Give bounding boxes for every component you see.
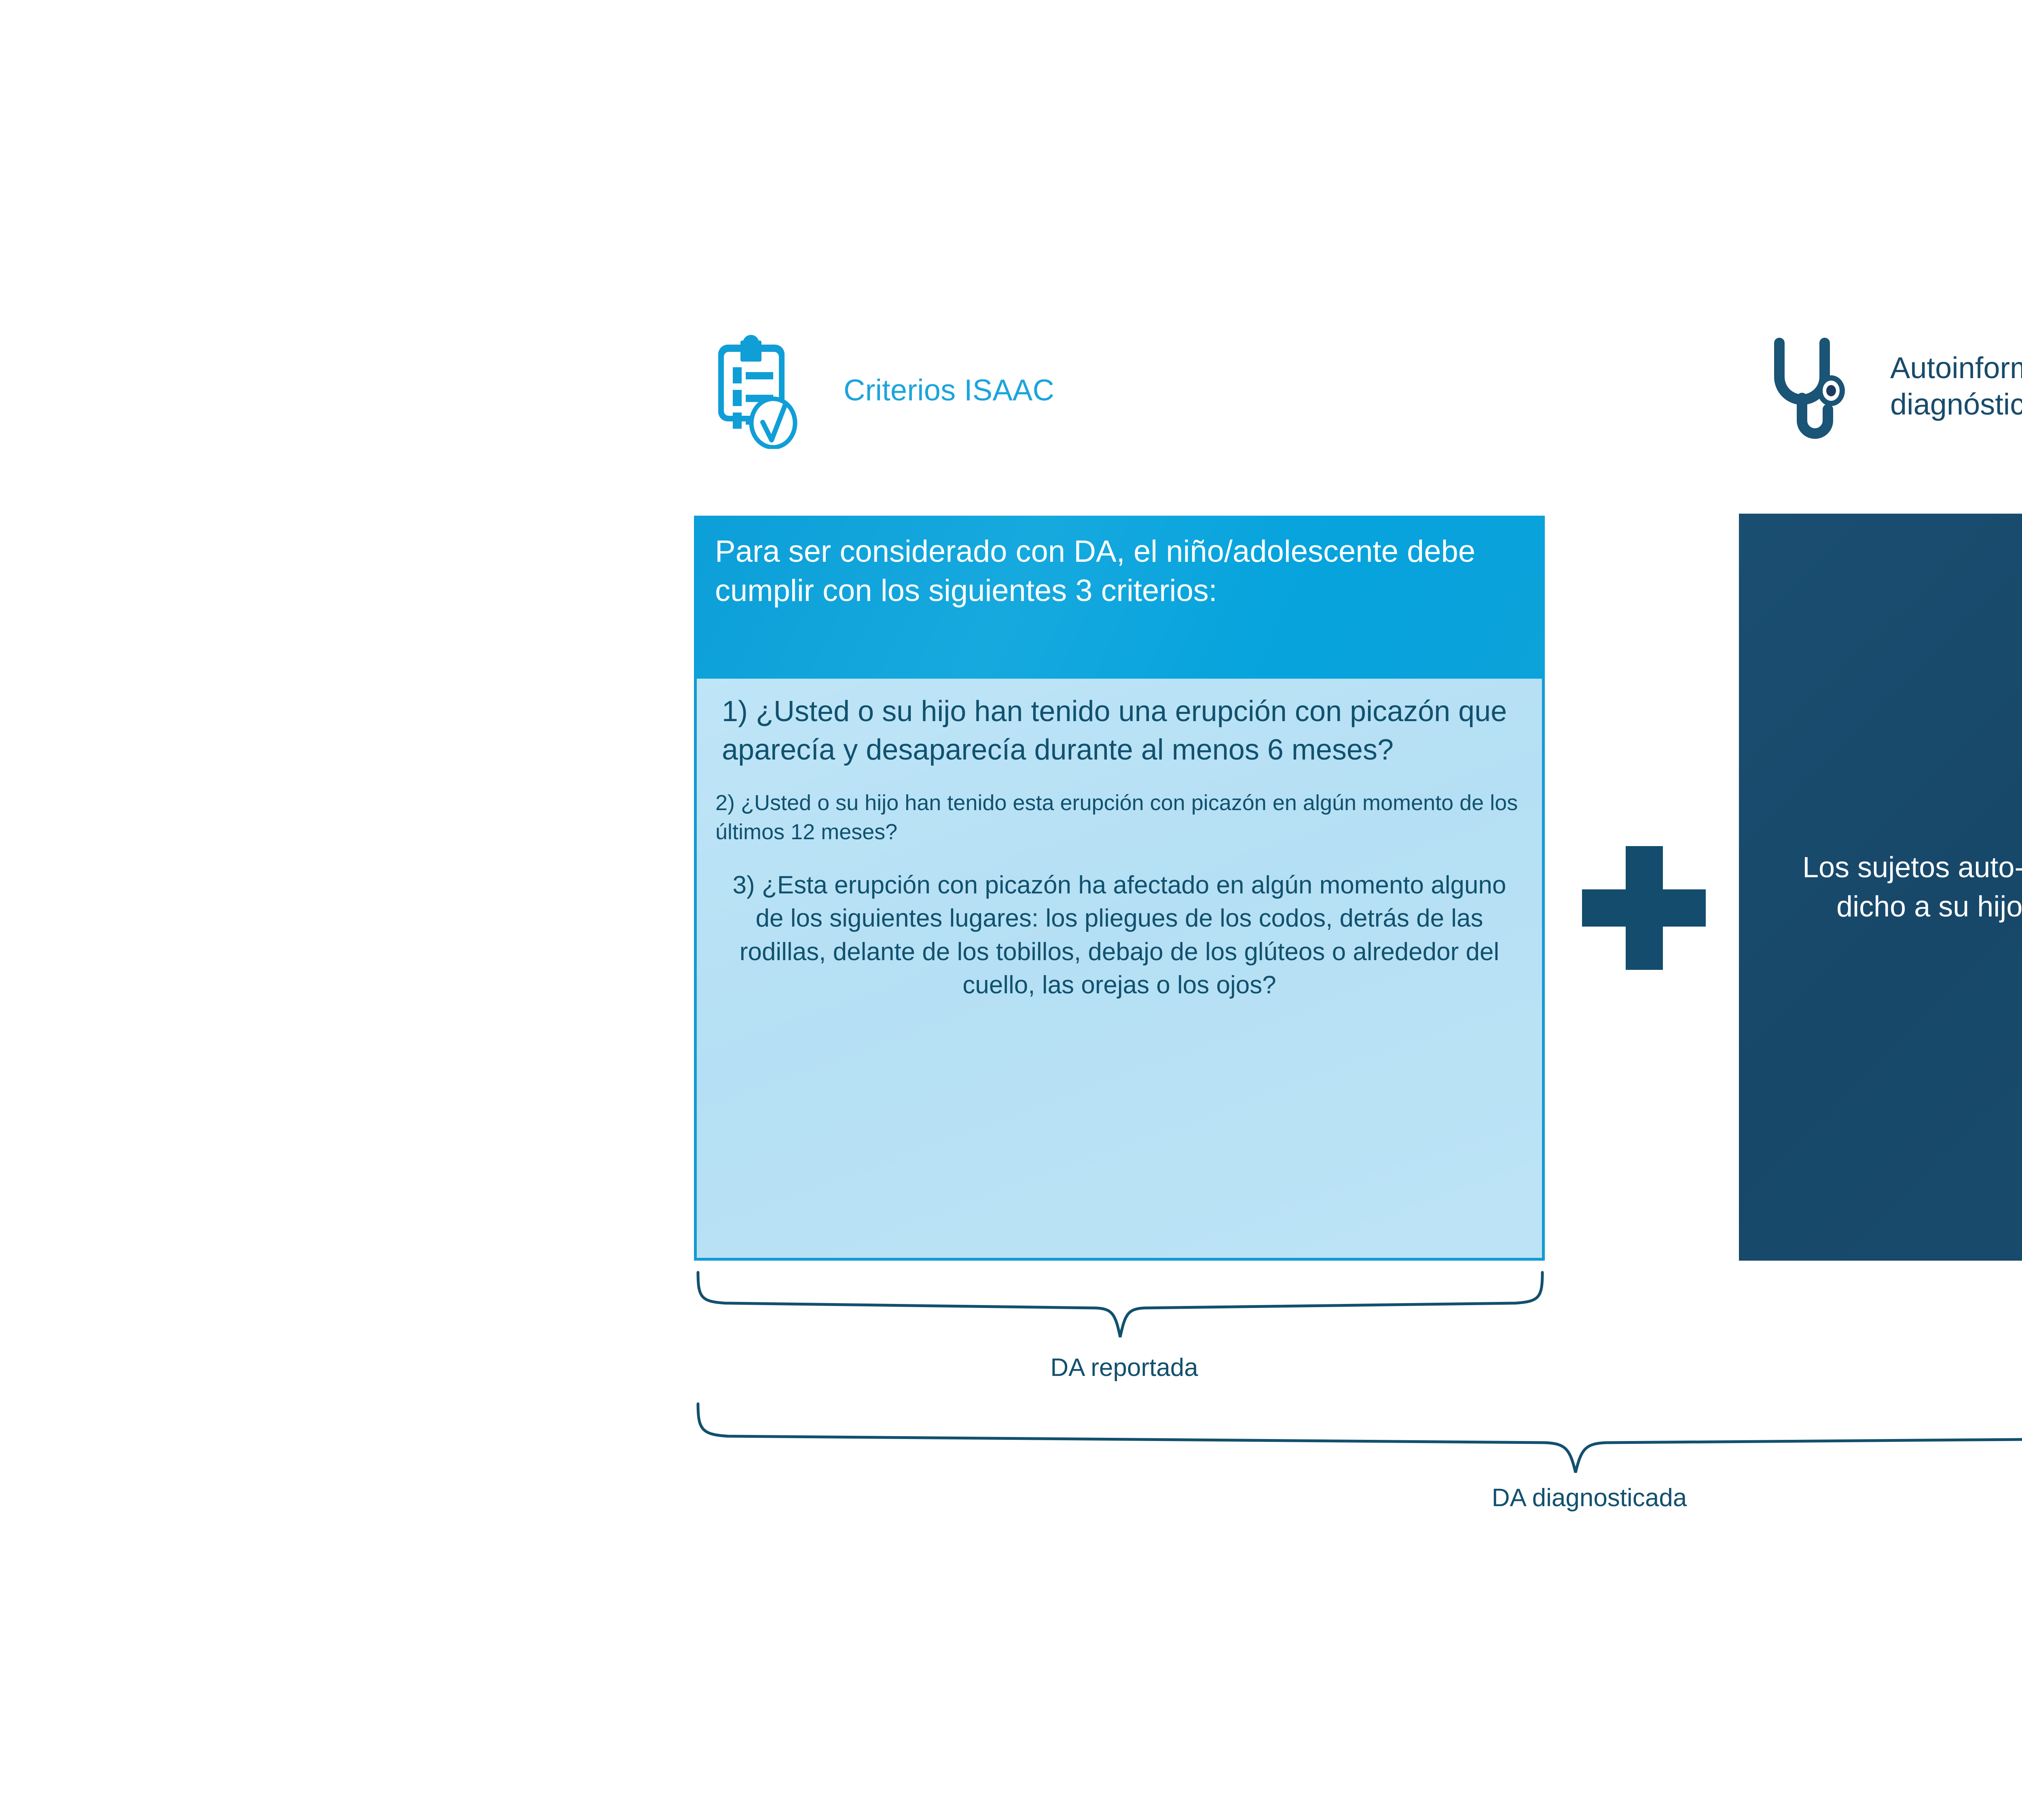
self-report-panel: Los sujetos auto-informarán si un médico…: [1739, 514, 2022, 1261]
isaac-card-body: 1) ¿Usted o su hijo han tenido una erupc…: [694, 679, 1545, 1261]
isaac-criteria-label: Criterios ISAAC: [844, 372, 1054, 408]
brace-diagnosed-label: DA diagnosticada: [1347, 1484, 1832, 1512]
criterion-item: 2) ¿Usted o su hijo han tenido esta erup…: [713, 789, 1526, 847]
self-report-header: Autoinforme del diagnóstico médico: [1767, 332, 2022, 441]
brace-reported-label: DA reportada: [882, 1353, 1367, 1382]
stethoscope-icon: [1767, 332, 1848, 441]
isaac-criteria-card: Para ser considerado con DA, el niño/ado…: [694, 516, 1545, 1261]
self-report-panel-text: Los sujetos auto-informarán si un médico…: [1787, 848, 2022, 926]
brace-diagnosed: [687, 1397, 2022, 1486]
self-report-label: Autoinforme del diagnóstico médico: [1890, 350, 2022, 423]
criterion-item: 1) ¿Usted o su hijo han tenido una erupc…: [713, 692, 1526, 769]
isaac-criteria-header: Criterios ISAAC: [704, 332, 1054, 449]
criterion-item: 3) ¿Esta erupción con picazón ha afectad…: [713, 869, 1526, 1002]
isaac-card-header-text: Para ser considerado con DA, el niño/ado…: [715, 532, 1524, 611]
isaac-card-header: Para ser considerado con DA, el niño/ado…: [694, 516, 1545, 679]
brace-reported: [687, 1266, 1553, 1351]
diagram-canvas: Criterios ISAAC Autoinforme del diagnóst…: [0, 0, 2022, 1820]
clipboard-check-icon: [704, 332, 805, 449]
plus-sign-icon: [1582, 846, 1706, 970]
plus-horizontal-bar: [1582, 889, 1706, 927]
